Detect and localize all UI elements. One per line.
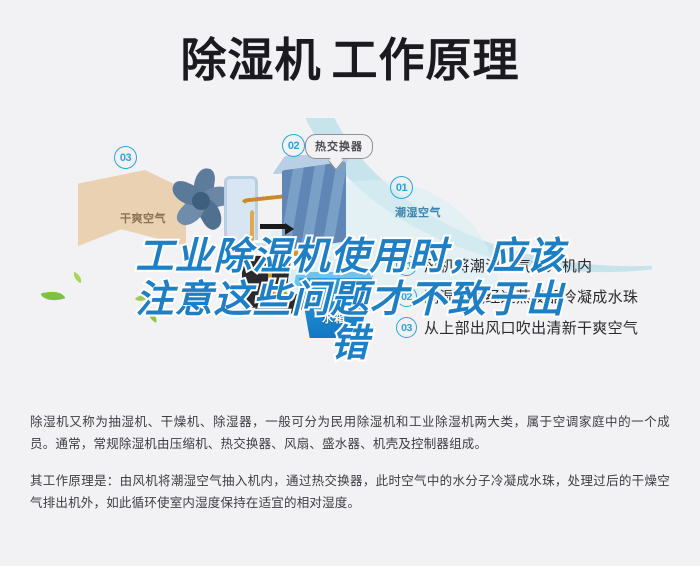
legend-item: 03 从上部出风口吹出清新干爽空气 [396,312,692,343]
leaf-icon [71,272,84,284]
leaf-icon [41,287,66,305]
legend-label: 潮湿空气经过蒸发器冷凝成水珠 [424,286,638,307]
humid-air-label: 潮湿空气 [395,204,441,220]
leaf-icon [147,312,159,323]
legend-item: 01 风机将潮湿空气抽入机内 [396,250,692,281]
article-paragraph-2: 其工作原理是：由风机将潮湿空气抽入机内，通过热交换器，此时空气中的水分子冷凝成水… [30,471,670,515]
legend-label: 风机将潮湿空气抽入机内 [424,255,592,276]
diagram-badge-01: 01 [390,176,413,199]
article-body: 除湿机又称为抽湿机、干燥机、除湿器，一般可分为民用除湿机和工业除湿机两大类，属于… [0,412,700,515]
page-title: 除湿机工作原理 [181,37,520,83]
leaf-icon [135,291,149,305]
page-title-bar: 除湿机工作原理 [0,0,700,120]
dry-air-label: 干爽空气 [120,210,166,226]
heat-exchanger-icon [282,162,346,251]
article-paragraph-1: 除湿机又称为抽湿机、干燥机、除湿器，一般可分为民用除湿机和工业除湿机两大类，属于… [30,412,670,456]
process-steps-legend: 01 风机将潮湿空气抽入机内 02 潮湿空气经过蒸发器冷凝成水珠 03 从上部出… [396,250,692,343]
heat-exchanger-callout: 热交换器 [305,134,373,159]
legend-badge: 01 [396,255,417,276]
legend-label: 从上部出风口吹出清新干爽空气 [424,317,638,338]
legend-item: 02 潮湿空气经过蒸发器冷凝成水珠 [396,281,692,312]
fan-hub-icon [192,192,210,210]
legend-badge: 02 [396,286,417,307]
page-title-part-b: 工作原理 [332,34,520,86]
water-tank-label: 水箱 [322,310,346,326]
airflow-arrow-icon [260,224,286,229]
page-title-part-a: 除湿机 [181,34,322,86]
diagram-badge-03: 03 [114,146,137,169]
legend-badge: 03 [396,317,417,338]
diagram-badge-02: 02 [282,134,305,157]
